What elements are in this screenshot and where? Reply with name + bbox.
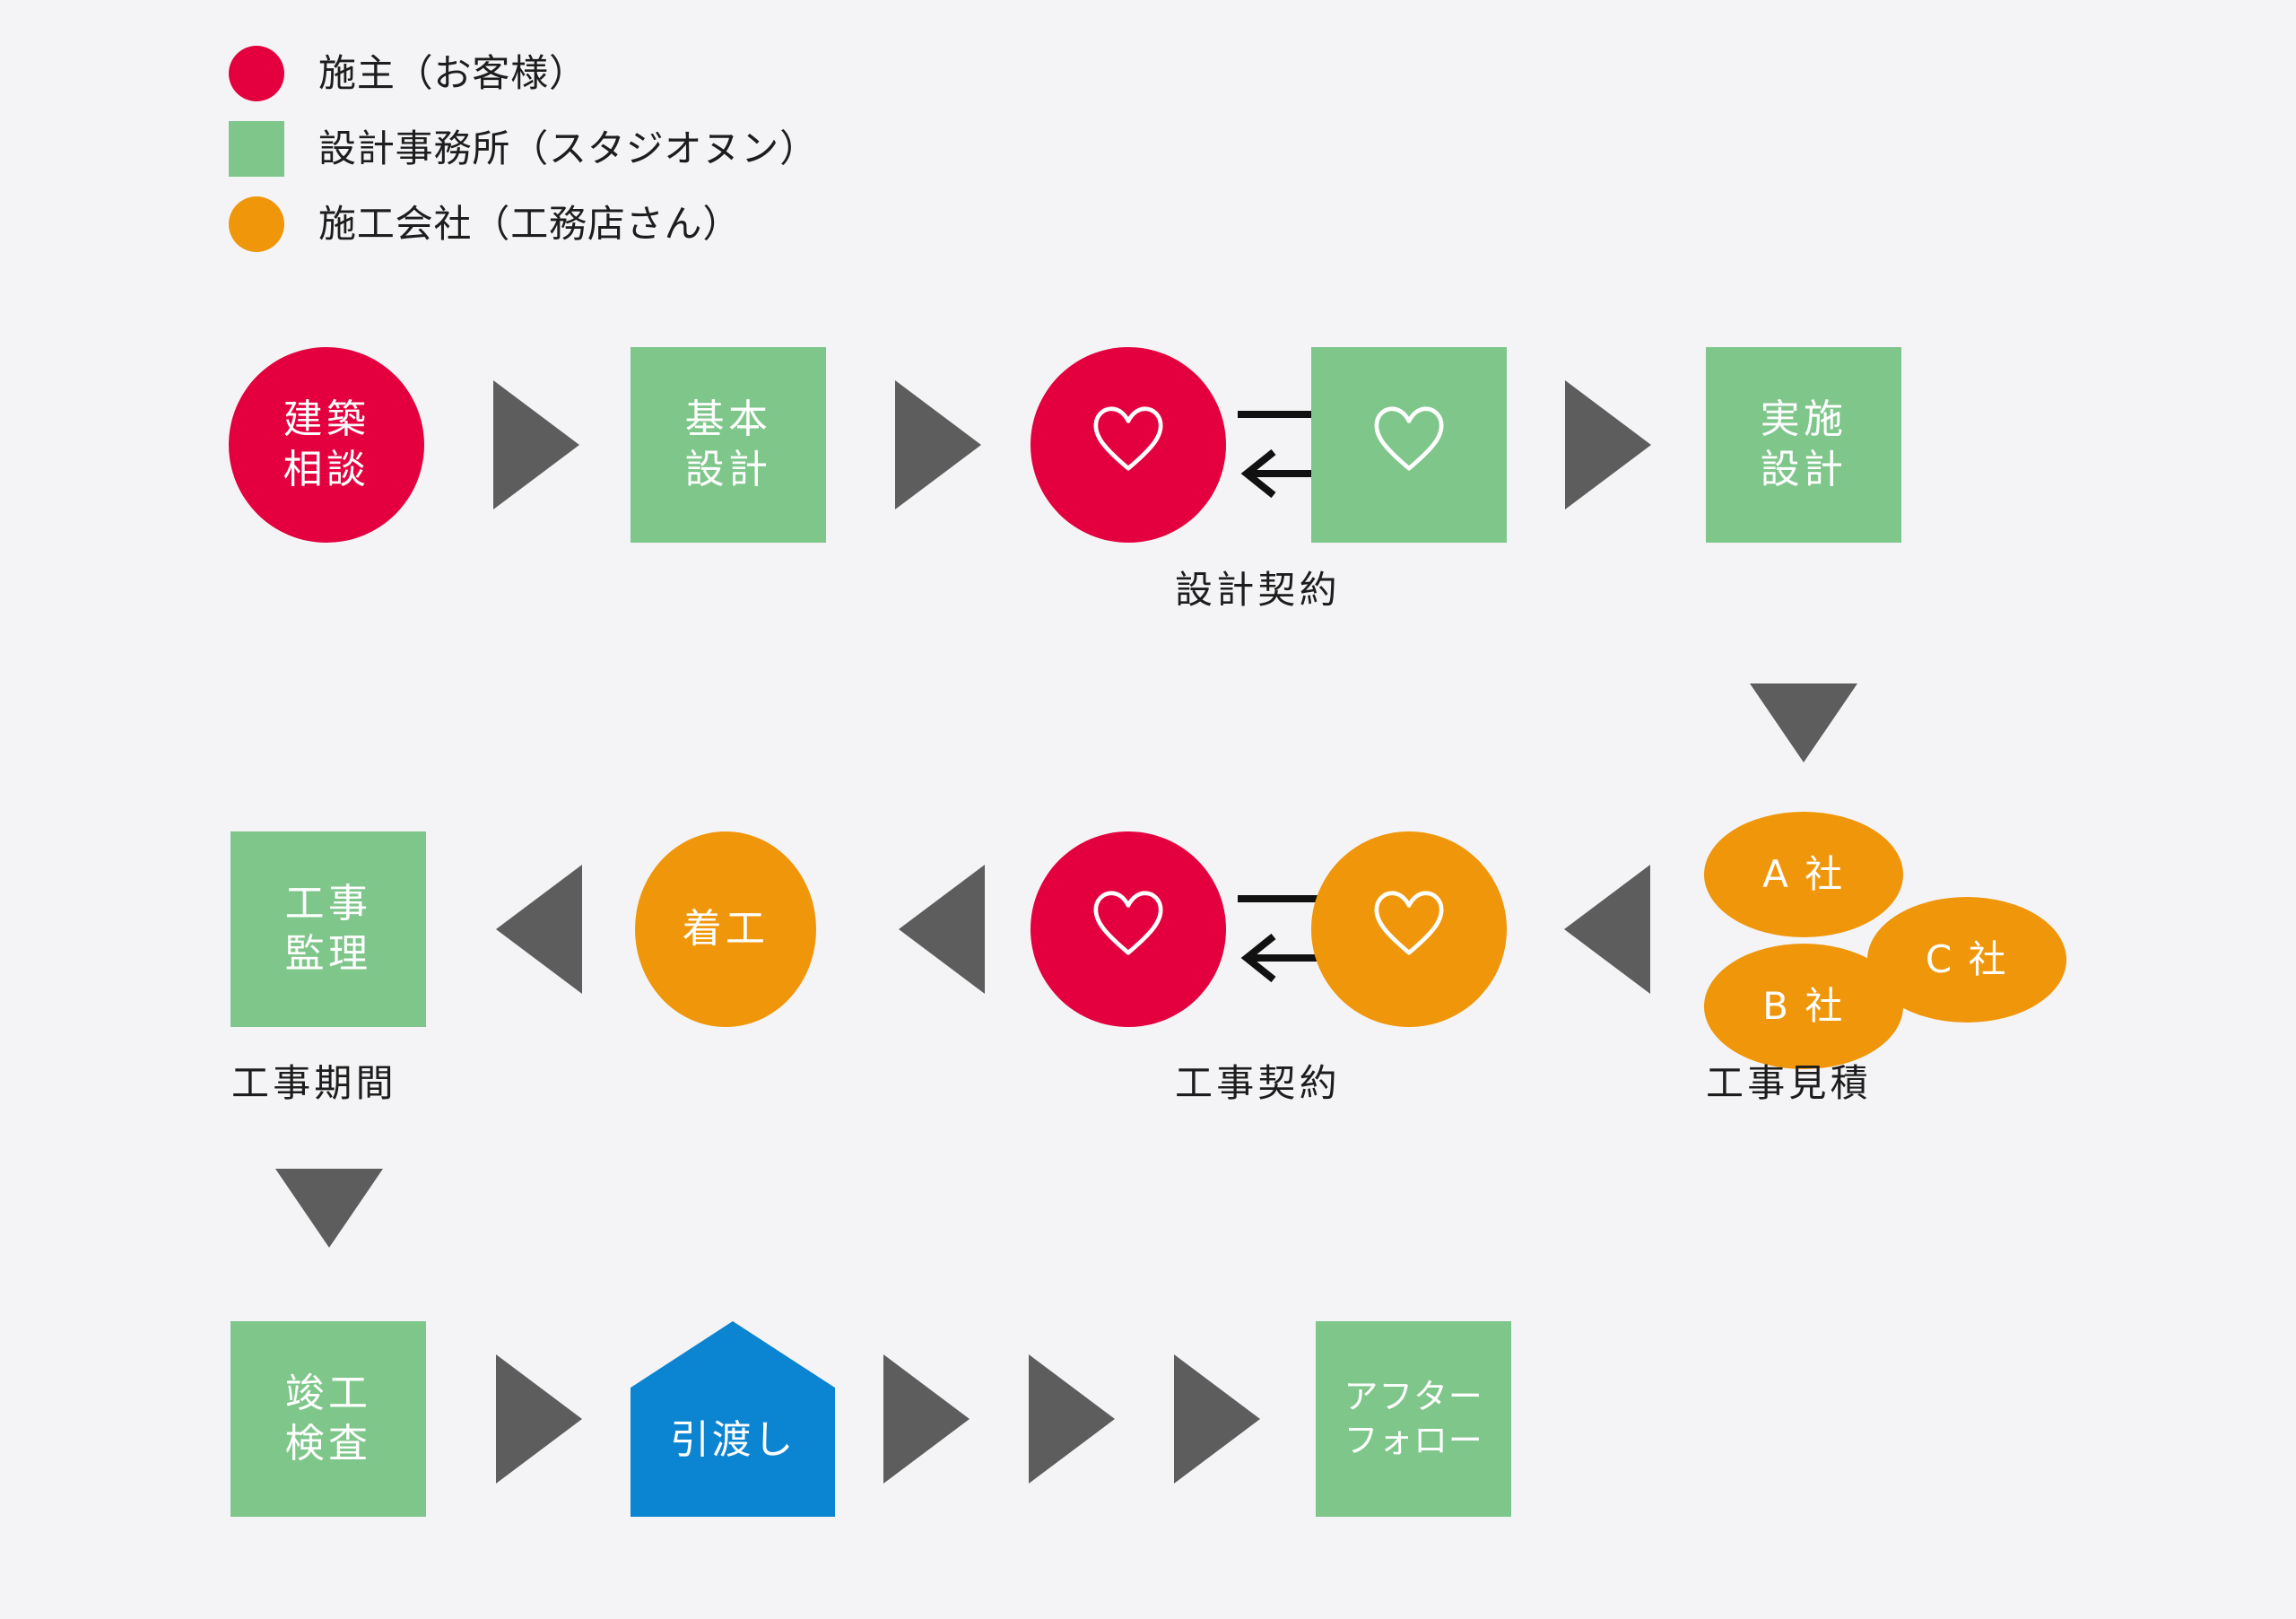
node-jisshi-sekkei: 実施 設計 [1706, 347, 1901, 543]
node-after-follow-label: アフター フォロー [1344, 1375, 1483, 1462]
node-design-contract-client [1031, 347, 1226, 543]
caption-design-contract: 設計契約 [1175, 571, 1341, 609]
triangle-right-icon [493, 380, 579, 509]
legend-item-design-office: 設計事務所（スタジオヌン） [229, 111, 818, 187]
legend-label-design-office: 設計事務所（スタジオヌン） [318, 130, 818, 168]
node-estimate-company-a-label: A 社 [1762, 850, 1845, 899]
node-kihon-sekkei: 基本 設計 [631, 347, 826, 543]
triangle-right-icon [1174, 1354, 1260, 1484]
caption-construction-period: 工事期間 [231, 1065, 397, 1102]
triangle-left-icon [496, 865, 582, 994]
legend-marker-circle-red [229, 46, 284, 101]
node-chakko: 着工 [635, 831, 816, 1027]
node-construction-contract-builder [1311, 831, 1507, 1027]
node-shunko-kensa: 竣工 検査 [230, 1321, 426, 1517]
node-koji-kanri: 工事 監理 [230, 831, 426, 1027]
triangle-right-icon [1029, 1354, 1115, 1484]
legend-marker-circle-orange [229, 196, 284, 252]
node-hikiwatashi: 引渡し [631, 1321, 835, 1517]
node-design-contract-office [1311, 347, 1507, 543]
legend-item-client: 施主（お客様） [229, 36, 818, 111]
triangle-down-icon [1750, 683, 1857, 762]
caption-construction-estimate: 工事見積 [1706, 1065, 1872, 1102]
triangle-right-icon [883, 1354, 970, 1484]
triangle-left-icon [1564, 865, 1650, 994]
flowchart-canvas: 施主（お客様） 設計事務所（スタジオヌン） 施工会社（工務店さん） 建築 相談 … [0, 0, 2296, 1619]
node-estimate-company-b-label: B 社 [1762, 982, 1845, 1031]
node-kihon-sekkei-label: 基本 設計 [685, 395, 772, 496]
node-estimate-company-c-label: C 社 [1926, 936, 2008, 984]
node-construction-contract-client [1031, 831, 1226, 1027]
legend-label-client: 施主（お客様） [318, 55, 587, 92]
triangle-right-icon [895, 380, 981, 509]
triangle-left-icon [899, 865, 985, 994]
node-koji-kanri-label: 工事 監理 [285, 879, 372, 980]
legend-label-builder: 施工会社（工務店さん） [318, 205, 741, 243]
triangle-right-icon [496, 1354, 582, 1484]
legend-item-builder: 施工会社（工務店さん） [229, 187, 818, 262]
node-estimate-company-b: B 社 [1704, 944, 1903, 1069]
triangle-right-icon [1565, 380, 1651, 509]
node-chakko-label: 着工 [683, 904, 770, 954]
heart-icon [1370, 887, 1448, 971]
legend-marker-square-green [229, 121, 284, 177]
node-estimate-company-a: A 社 [1704, 812, 1903, 937]
node-kenchiku-sodan-label: 建築 相談 [283, 395, 370, 496]
heart-icon [1090, 403, 1167, 487]
node-kenchiku-sodan: 建築 相談 [229, 347, 424, 543]
node-jisshi-sekkei-label: 実施 設計 [1761, 395, 1848, 496]
node-after-follow: アフター フォロー [1316, 1321, 1511, 1517]
heart-icon [1090, 887, 1167, 971]
caption-construction-contract: 工事契約 [1175, 1065, 1341, 1102]
node-hikiwatashi-label: 引渡し [670, 1407, 796, 1465]
triangle-down-icon [275, 1169, 383, 1248]
node-shunko-kensa-label: 竣工 検査 [285, 1369, 372, 1470]
heart-icon [1370, 403, 1448, 487]
legend: 施主（お客様） 設計事務所（スタジオヌン） 施工会社（工務店さん） [229, 36, 818, 262]
